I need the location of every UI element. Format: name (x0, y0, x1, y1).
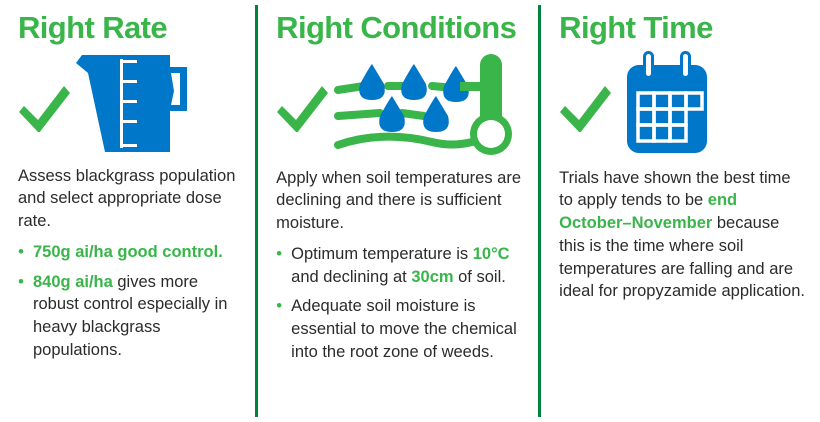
column-right-time: Right Time (541, 0, 820, 422)
bullet-1-highlight-depth: 30cm (411, 268, 453, 286)
check-icon (559, 76, 611, 137)
column-1-paragraph: Assess blackgrass population and select … (18, 165, 241, 233)
list-item: Optimum temperature is 10°C and declinin… (276, 243, 524, 289)
thermometer-moisture-icon (332, 50, 532, 163)
list-item: Adequate soil moisture is essential to m… (276, 295, 524, 363)
check-icon (18, 76, 70, 137)
column-3-icon-row (559, 51, 806, 163)
column-3-paragraph-pre: Trials have shown the best time to apply… (559, 169, 790, 210)
column-2-heading: Right Conditions (276, 12, 524, 45)
bullet-2-highlight: 840g ai/ha (33, 273, 113, 291)
column-1-bullets: 750g ai/ha good control. 840g ai/ha give… (18, 241, 241, 362)
check-icon (276, 76, 328, 137)
column-3-paragraph: Trials have shown the best time to apply… (559, 167, 806, 304)
column-2-icon-row (276, 51, 524, 163)
bullet-1-pre: Optimum temperature is (291, 245, 473, 263)
column-1-body: Assess blackgrass population and select … (18, 165, 241, 362)
list-item: 750g ai/ha good control. (18, 241, 241, 264)
column-1-icon-row (18, 51, 241, 163)
bullet-1-mid: and declining at (291, 268, 411, 286)
column-1-heading: Right Rate (18, 12, 241, 45)
column-right-conditions: Right Conditions (258, 0, 538, 422)
bullet-1-rest: of soil. (454, 268, 506, 286)
bullet-1-highlight: 750g ai/ha good control. (33, 243, 223, 261)
bullet-1-highlight-temp: 10°C (473, 245, 510, 263)
column-2-paragraph: Apply when soil temperatures are declini… (276, 167, 524, 235)
column-2-bullets: Optimum temperature is 10°C and declinin… (276, 243, 524, 364)
list-item: 840g ai/ha gives more robust control esp… (18, 271, 241, 362)
bullet-2-text: Adequate soil moisture is essential to m… (291, 297, 517, 361)
calendar-icon (615, 51, 719, 162)
infographic-board: Right Rate Ass (0, 0, 820, 422)
column-2-body: Apply when soil temperatures are declini… (276, 167, 524, 364)
column-right-rate: Right Rate Ass (0, 0, 255, 422)
measuring-jug-icon (74, 49, 194, 164)
column-3-body: Trials have shown the best time to apply… (559, 167, 806, 304)
column-3-heading: Right Time (559, 12, 806, 45)
